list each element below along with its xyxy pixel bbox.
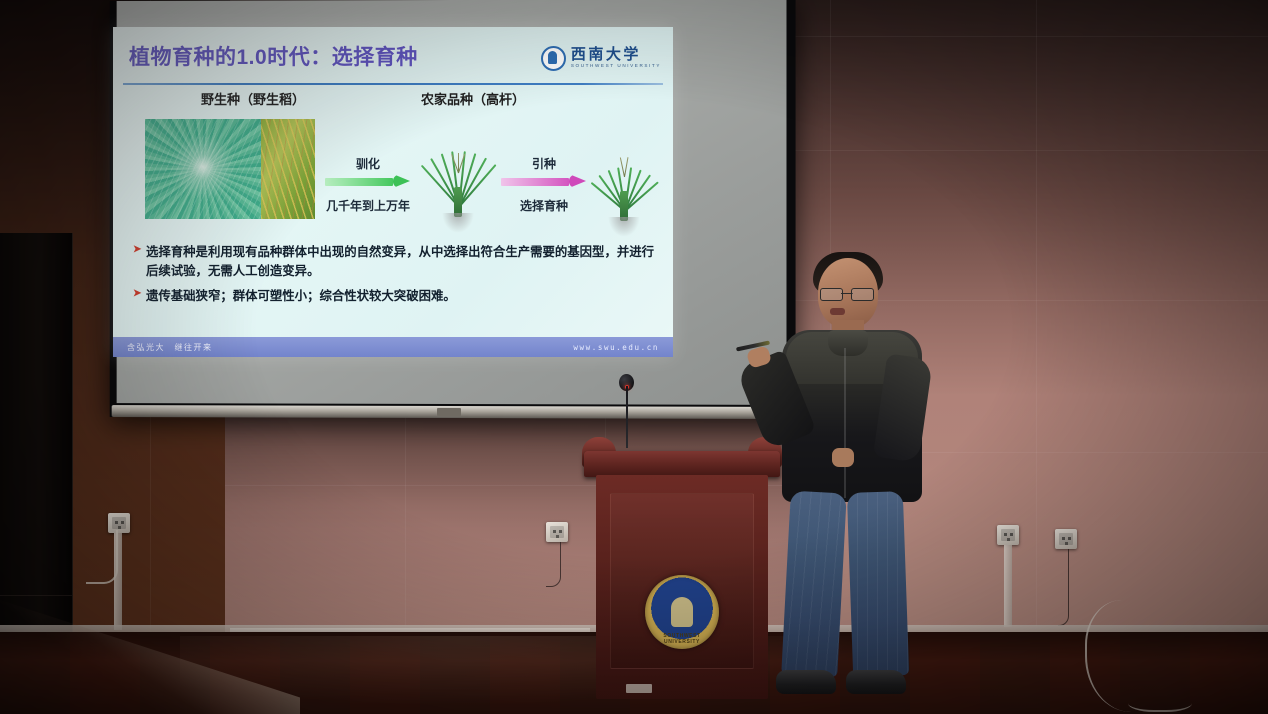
footer-motto: 含弘光大 继往开来 [127, 342, 213, 353]
lectern-emblem-icon: SOUTHWEST UNIVERSITY [645, 575, 719, 649]
conduit-right-a [1004, 545, 1012, 627]
presenter-leg-right [847, 491, 909, 677]
presenter-shoe-right [846, 670, 906, 694]
university-name-cn: 西南大学 [571, 47, 661, 62]
wild-rice-photo [145, 119, 315, 219]
presenter-shoe-left [776, 670, 836, 694]
footer-url: www.swu.edu.cn [573, 343, 659, 352]
wild-rice-clump-image [145, 119, 261, 219]
slide-title: 植物育种的1.0时代：选择育种 [129, 41, 418, 71]
wild-rice-panicle-image [261, 119, 315, 219]
slide-bullet-list: 选择育种是利用现有品种群体中出现的自然变异，从中选择出符合生产需要的基因型，并进… [133, 242, 657, 312]
title-divider [123, 83, 663, 85]
column-header-wild: 野生种（野生稻） [153, 89, 353, 108]
arrow-domestication-label: 驯化 [325, 155, 411, 172]
presenter-collar [828, 330, 868, 356]
power-cable-right [1058, 549, 1069, 626]
slide-footer: 含弘光大 继往开来 www.swu.edu.cn [113, 337, 673, 357]
improved-rice-plant [585, 127, 663, 237]
side-cabinet [0, 233, 73, 653]
screen-clip [437, 408, 461, 416]
screen-bottom-bar [112, 405, 794, 419]
presenter-legs [784, 492, 918, 680]
presenter-leg-left [781, 491, 847, 678]
floor-cable-tail [1128, 690, 1192, 712]
university-logo: 西南大学 SOUTHWEST UNIVERSITY [541, 43, 661, 73]
slide-header: 植物育种的1.0时代：选择育种 西南大学 SOUTHWEST UNIVERSIT… [113, 37, 673, 81]
wall-outlet-right-b [1055, 529, 1077, 549]
presenter-mouth [830, 308, 845, 315]
bullet-item: 选择育种是利用现有品种群体中出现的自然变异，从中选择出符合生产需要的基因型，并进… [133, 242, 657, 280]
presenter-glasses [820, 288, 874, 299]
presentation-slide: 植物育种的1.0时代：选择育种 西南大学 SOUTHWEST UNIVERSIT… [113, 27, 673, 357]
arrow-introduction-sublabel: 选择育种 [501, 197, 587, 214]
lecture-hall-scene: 植物育种的1.0时代：选择育种 西南大学 SOUTHWEST UNIVERSIT… [0, 0, 1268, 714]
presenter-jacket-zipper [844, 348, 846, 498]
arrow-domestication: 驯化 几千年到上万年 [325, 175, 411, 188]
arrow-domestication-sublabel: 几千年到上万年 [325, 197, 411, 214]
mic-cable [546, 542, 561, 587]
arrow-introduction-label: 引种 [501, 155, 587, 172]
landrace-rice-plant [419, 123, 497, 233]
university-emblem-icon [541, 46, 566, 71]
presenter-hand-right [832, 448, 854, 467]
lectern-emblem-text: SOUTHWEST UNIVERSITY [645, 633, 719, 645]
wall-outlet-right-a [997, 525, 1019, 545]
lectern-badge [626, 684, 652, 693]
power-cable-left [86, 530, 118, 584]
university-name-en: SOUTHWEST UNIVERSITY [571, 64, 661, 69]
wall-outlet-center [546, 522, 568, 542]
bullet-item: 遗传基础狭窄；群体可塑性小；综合性状较大突破困难。 [133, 286, 657, 305]
column-header-landrace: 农家品种（高杆） [363, 89, 583, 108]
arrow-introduction: 引种 选择育种 [501, 175, 587, 188]
presenter [740, 252, 950, 714]
